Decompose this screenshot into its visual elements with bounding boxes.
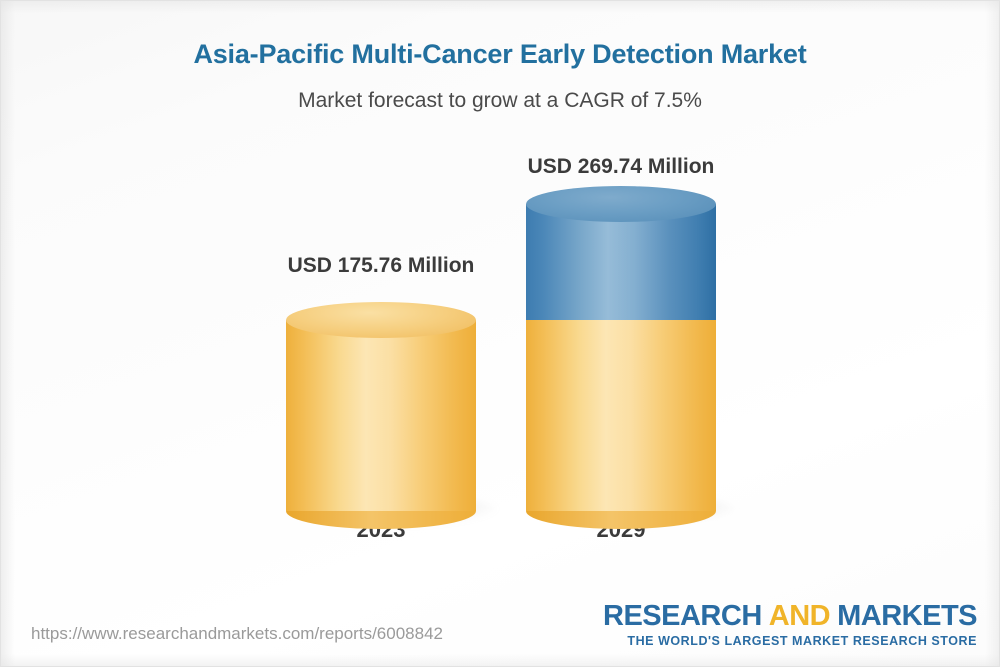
cylinder-body	[526, 320, 716, 511]
cylinder-2029[interactable]	[526, 204, 716, 511]
logo-tagline: THE WORLD'S LARGEST MARKET RESEARCH STOR…	[603, 634, 977, 648]
bar-group-2029[interactable]: USD 269.74 Million 2029	[496, 131, 746, 571]
research-and-markets-logo[interactable]: RESEARCHANDMARKETS THE WORLD'S LARGEST M…	[603, 601, 977, 648]
report-url[interactable]: https://www.researchandmarkets.com/repor…	[31, 624, 443, 644]
chart-subtitle: Market forecast to grow at a CAGR of 7.5…	[1, 89, 999, 113]
bar-group-2023[interactable]: USD 175.76 Million 2023	[256, 131, 506, 571]
cylinder-2023[interactable]	[286, 320, 476, 511]
bar-value-label-2023: USD 175.76 Million	[256, 254, 506, 278]
cylinder-body	[286, 320, 476, 511]
chart-card: Asia-Pacific Multi-Cancer Early Detectio…	[0, 0, 1000, 667]
logo-wordmark: RESEARCHANDMARKETS	[603, 601, 977, 631]
logo-word-and: AND	[769, 600, 830, 632]
cylinder-segment-growth-2029[interactable]	[526, 204, 716, 320]
logo-word-research: RESEARCH	[603, 600, 762, 632]
bar-value-label-2029: USD 269.74 Million	[496, 155, 746, 179]
chart-title: Asia-Pacific Multi-Cancer Early Detectio…	[1, 39, 999, 70]
cylinder-segment-base-2023[interactable]	[286, 320, 476, 511]
cylinder-top-cap	[286, 302, 476, 338]
plot-area: USD 175.76 Million 2023 USD 269.74 Milli…	[1, 131, 1000, 571]
cylinder-segment-base-2029[interactable]	[526, 320, 716, 511]
logo-word-markets: MARKETS	[837, 600, 977, 632]
cylinder-top-cap	[526, 186, 716, 222]
